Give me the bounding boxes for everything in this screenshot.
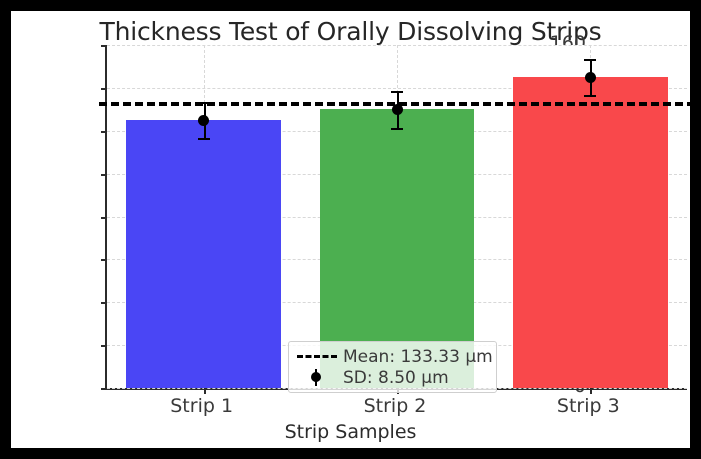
- error-bar-cap-lower: [391, 128, 403, 130]
- x-tick-label-strip-2: Strip 2: [325, 395, 465, 417]
- data-point-marker[interactable]: [198, 115, 209, 126]
- plot-area: [105, 45, 687, 390]
- legend-label-mean: Mean: 133.33 µm: [339, 347, 493, 367]
- y-tick-mark: [101, 388, 107, 390]
- x-axis-label: Strip Samples: [11, 421, 690, 443]
- y-tick-mark: [101, 45, 107, 47]
- y-tick-mark: [101, 302, 107, 304]
- x-tick-label-strip-1: Strip 1: [132, 395, 272, 417]
- chart-legend: Mean: 133.33 µm SD: 8.50 µm: [288, 341, 497, 393]
- x-tick-mark: [590, 388, 592, 394]
- error-bar-cap-lower: [198, 138, 210, 140]
- error-bar-cap-lower: [584, 95, 596, 97]
- y-tick-mark: [101, 217, 107, 219]
- dashed-line-icon: [295, 346, 339, 367]
- y-tick-mark: [101, 259, 107, 261]
- chart-title: Thickness Test of Orally Dissolving Stri…: [11, 17, 690, 46]
- errorbar-marker-icon: [295, 367, 339, 388]
- error-bar-cap-upper: [584, 59, 596, 61]
- y-tick-mark: [101, 345, 107, 347]
- data-point-marker[interactable]: [585, 72, 596, 83]
- bar-strip-1[interactable]: [126, 120, 281, 388]
- legend-label-sd: SD: 8.50 µm: [339, 368, 449, 388]
- y-tick-mark: [101, 88, 107, 90]
- chart-canvas: Thickness Test of Orally Dissolving Stri…: [11, 11, 690, 448]
- legend-row-sd: SD: 8.50 µm: [295, 367, 490, 388]
- y-tick-mark: [101, 174, 107, 176]
- mean-reference-line: [99, 102, 690, 106]
- legend-row-mean: Mean: 133.33 µm: [295, 346, 490, 367]
- x-tick-mark: [204, 388, 206, 394]
- bar-strip-3[interactable]: [513, 77, 668, 388]
- y-tick-mark: [101, 131, 107, 133]
- error-bar-cap-upper: [391, 91, 403, 93]
- chart-figure: Thickness Test of Orally Dissolving Stri…: [0, 0, 701, 459]
- x-tick-label-strip-3: Strip 3: [518, 395, 658, 417]
